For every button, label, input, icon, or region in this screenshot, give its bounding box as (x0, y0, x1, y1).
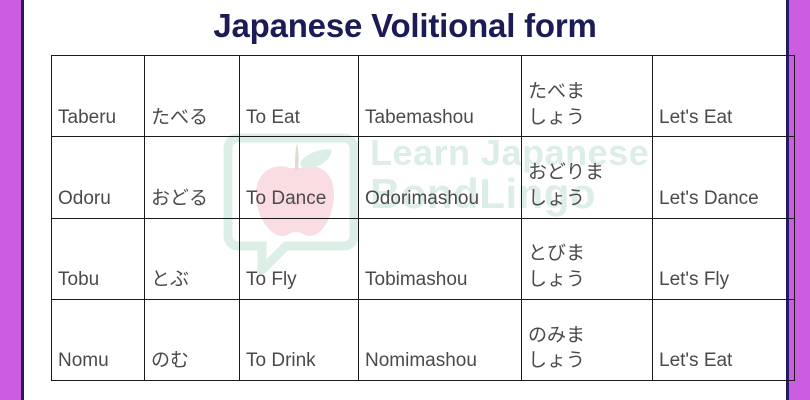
left-decorative-band (0, 0, 21, 400)
cell-volitional-kana: たべま しょう (522, 56, 653, 137)
table-row: Odoru おどる To Dance Odorimashou おどりま しょう … (52, 137, 795, 218)
volitional-kana-line-1: のみま (528, 323, 652, 349)
cell-kana: のむ (145, 299, 240, 380)
volitional-kana-line-1: とびま (528, 241, 652, 267)
table-row: Taberu たべる To Eat Tabemashou たべま しょう Let… (52, 56, 795, 137)
volitional-kana-line-2: しょう (528, 348, 652, 374)
cell-volitional-romaji: Tobimashou (359, 218, 522, 299)
cell-kana: たべる (145, 56, 240, 137)
cell-translation: Let's Eat (653, 56, 795, 137)
cell-romaji: Odoru (52, 137, 145, 218)
cell-romaji: Taberu (52, 56, 145, 137)
cell-kana: とぶ (145, 218, 240, 299)
cell-meaning: To Drink (240, 299, 359, 380)
cell-meaning: To Eat (240, 56, 359, 137)
cell-meaning: To Fly (240, 218, 359, 299)
cell-volitional-romaji: Tabemashou (359, 56, 522, 137)
page-title: Japanese Volitional form (24, 2, 786, 50)
cell-volitional-kana: とびま しょう (522, 218, 653, 299)
cell-meaning: To Dance (240, 137, 359, 218)
cell-kana: おどる (145, 137, 240, 218)
cell-volitional-romaji: Odorimashou (359, 137, 522, 218)
table-row: Tobu とぶ To Fly Tobimashou とびま しょう Let's … (52, 218, 795, 299)
cell-volitional-romaji: Nomimashou (359, 299, 522, 380)
left-divider-rule (21, 0, 24, 400)
volitional-form-table: Taberu たべる To Eat Tabemashou たべま しょう Let… (51, 55, 795, 381)
volitional-kana-line-1: おどりま (528, 160, 652, 186)
volitional-kana-line-2: しょう (528, 267, 652, 293)
page-root: Japanese Volitional form Learn Japanese … (0, 0, 810, 400)
cell-romaji: Nomu (52, 299, 145, 380)
volitional-kana-line-1: たべま (528, 79, 652, 105)
cell-volitional-kana: おどりま しょう (522, 137, 653, 218)
cell-volitional-kana: のみま しょう (522, 299, 653, 380)
table-row: Nomu のむ To Drink Nomimashou のみま しょう Let'… (52, 299, 795, 380)
volitional-kana-line-2: しょう (528, 105, 652, 131)
cell-translation: Let's Fly (653, 218, 795, 299)
volitional-kana-line-2: しょう (528, 186, 652, 212)
cell-romaji: Tobu (52, 218, 145, 299)
cell-translation: Let's Eat (653, 299, 795, 380)
cell-translation: Let's Dance (653, 137, 795, 218)
